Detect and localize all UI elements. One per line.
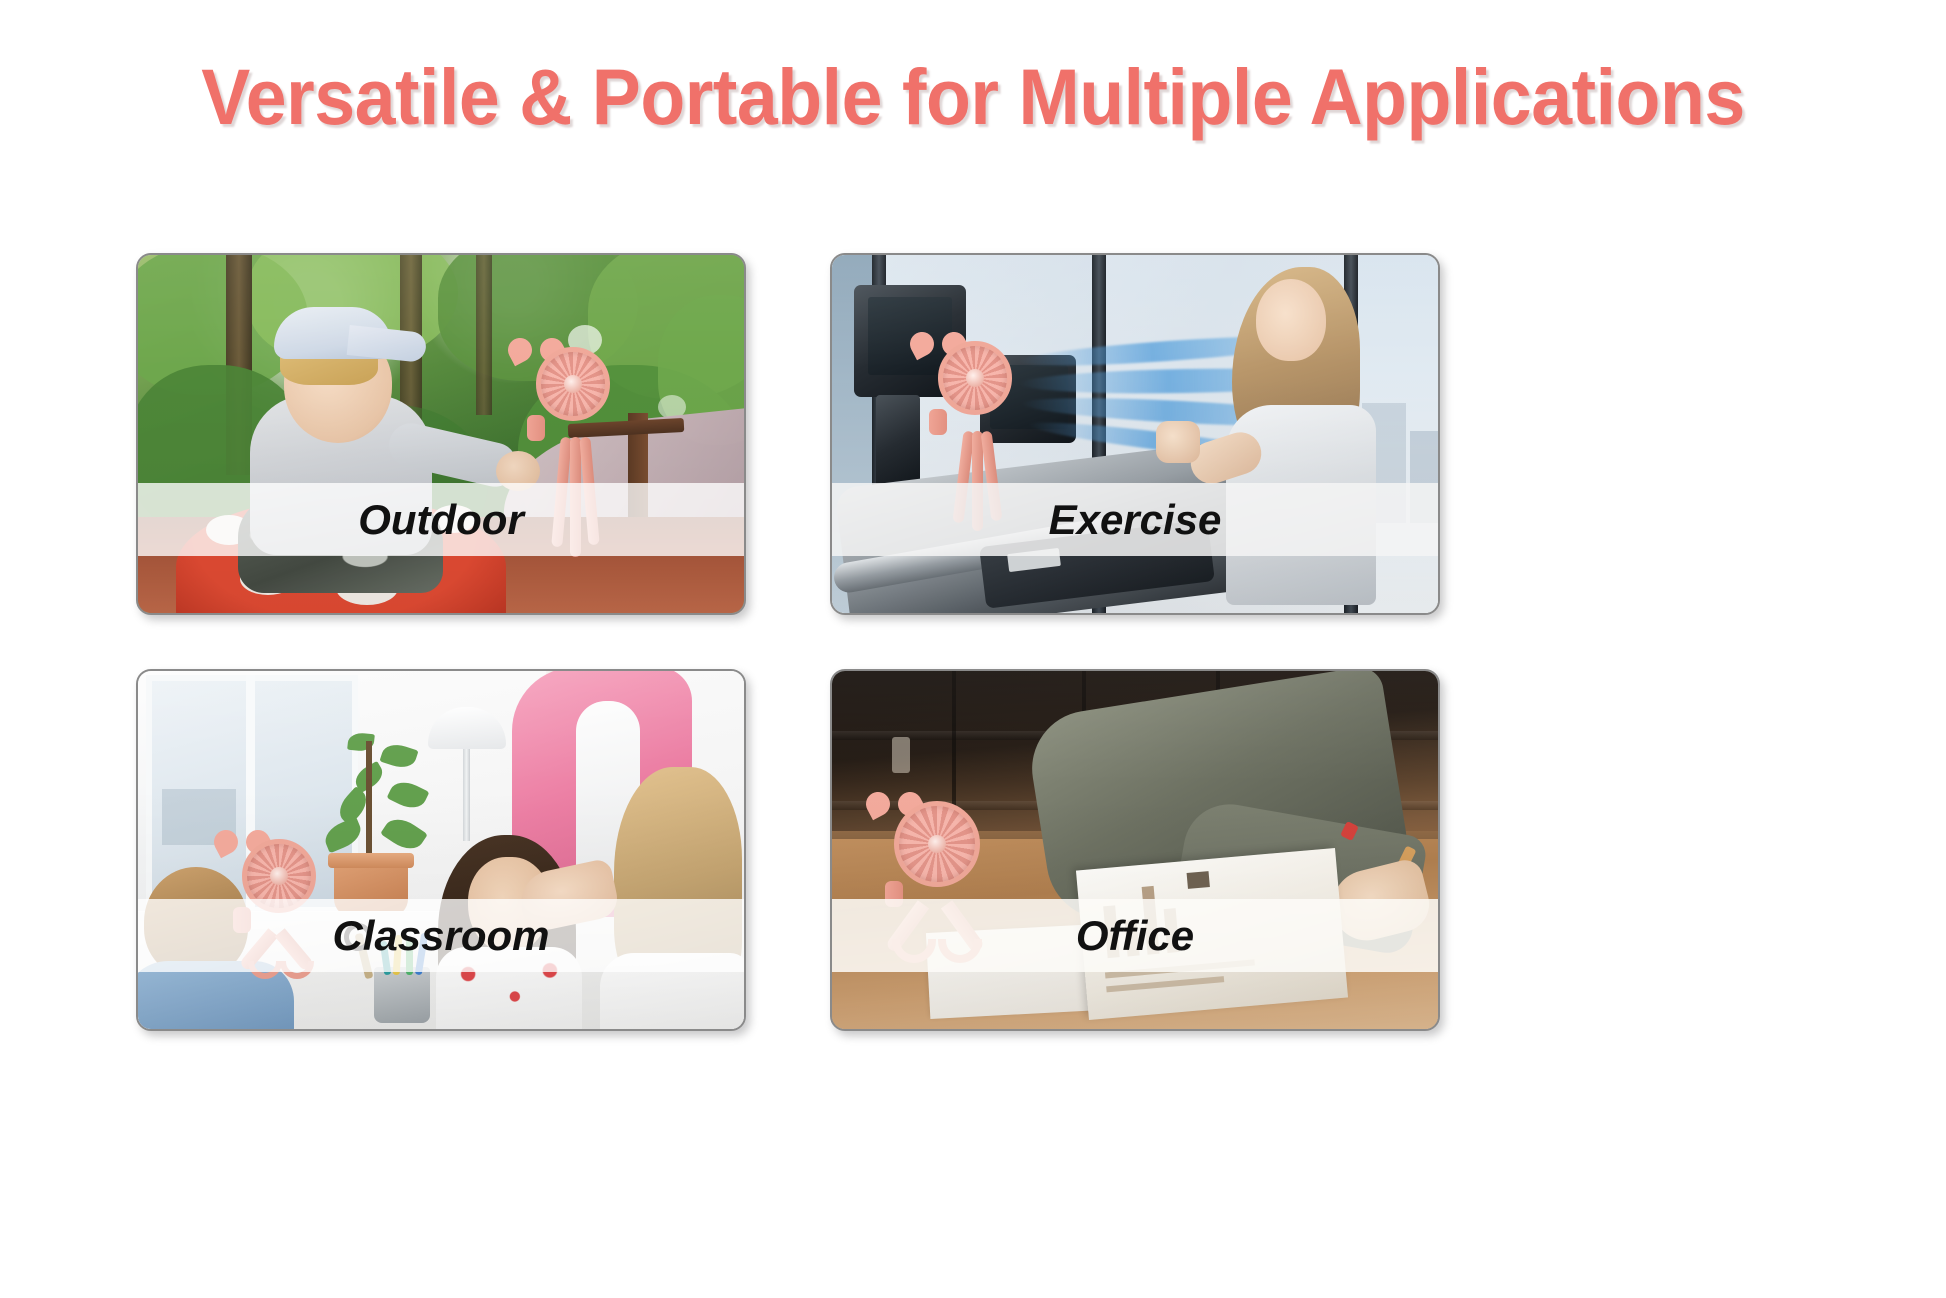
page-title: Versatile & Portable for Multiple Applic…: [68, 57, 1878, 136]
office-scene-image: [832, 671, 1438, 1029]
classroom-scene-image: [138, 671, 744, 1029]
caption-office: Office: [1076, 912, 1194, 960]
exercise-scene-image: [832, 255, 1438, 613]
application-card-outdoor[interactable]: Outdoor: [136, 253, 746, 615]
caption-band-office: Office: [832, 899, 1438, 972]
application-card-classroom[interactable]: Classroom: [136, 669, 746, 1031]
desk-lamp-stem: [463, 749, 470, 841]
application-card-office[interactable]: Office: [830, 669, 1440, 1031]
caption-band-classroom: Classroom: [138, 899, 744, 972]
outdoor-scene-image: [138, 255, 744, 613]
application-card-exercise[interactable]: Exercise: [830, 253, 1440, 615]
application-cards-grid: Outdoor: [136, 253, 1428, 1031]
caption-band-exercise: Exercise: [832, 483, 1438, 556]
caption-band-outdoor: Outdoor: [138, 483, 744, 556]
caption-exercise: Exercise: [1049, 496, 1222, 544]
runner-fist: [1156, 421, 1200, 463]
caption-outdoor: Outdoor: [358, 496, 524, 544]
runner-head: [1256, 279, 1326, 361]
caption-classroom: Classroom: [332, 912, 549, 960]
pencil-cup: [374, 967, 430, 1023]
